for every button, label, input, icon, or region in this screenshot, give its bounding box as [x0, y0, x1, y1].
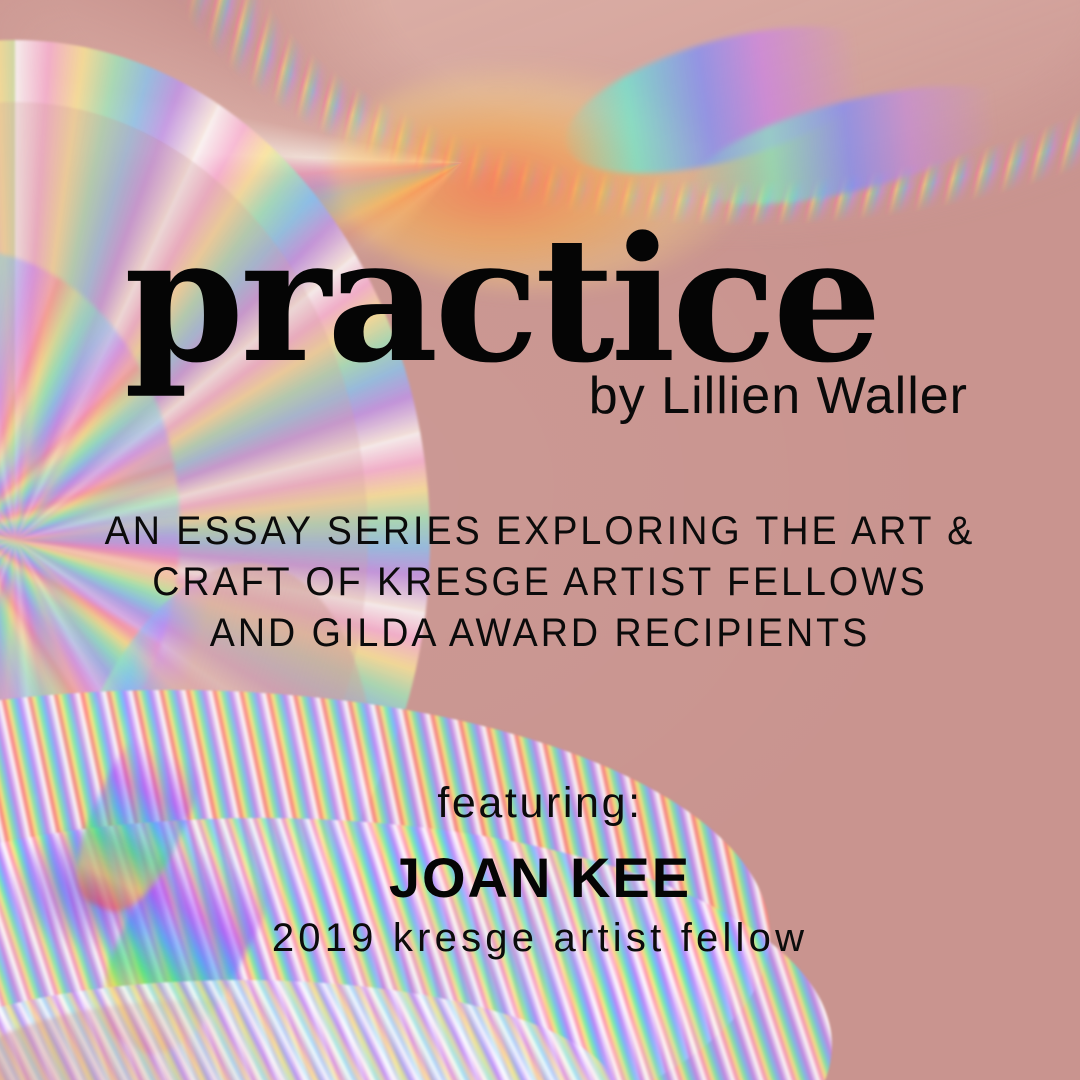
author-byline: by Lillien Waller	[589, 366, 968, 426]
series-description-line-3: AND GILDA AWARD RECIPIENTS	[32, 608, 1047, 659]
featured-artist-name: JOAN KEE	[0, 845, 1080, 910]
featured-artist-credit: 2019 kresge artist fellow	[0, 916, 1080, 961]
practice-essay-series-poster: practice by Lillien Waller AN ESSAY SERI…	[0, 0, 1080, 1080]
featuring-label: featuring:	[0, 779, 1080, 828]
series-description-line-1: AN ESSAY SERIES EXPLORING THE ART &	[32, 506, 1047, 557]
series-description: AN ESSAY SERIES EXPLORING THE ART & CRAF…	[32, 506, 1047, 659]
poster-text-layer: practice by Lillien Waller AN ESSAY SERI…	[0, 0, 1080, 1080]
series-description-line-2: CRAFT OF KRESGE ARTIST FELLOWS	[32, 557, 1047, 608]
page-title: practice	[124, 214, 878, 386]
